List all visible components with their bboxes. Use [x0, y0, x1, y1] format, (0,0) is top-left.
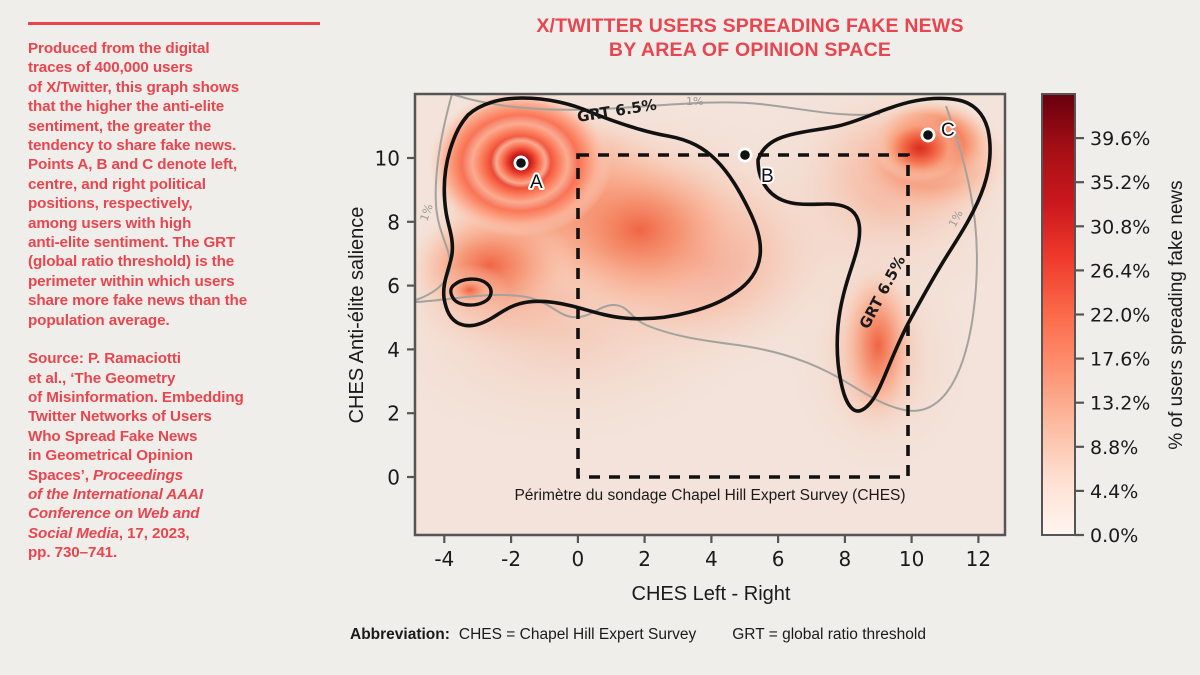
colorbar-gradient	[1042, 94, 1075, 535]
colorbar-tick-label: 22.0%	[1090, 305, 1150, 327]
y-tick-label: 2	[387, 402, 400, 426]
x-tick-label: 8	[839, 547, 852, 571]
plot-panel: GRT 6.5% GRT 6.5% 1% 1% 1% A B C	[360, 70, 1030, 535]
x-tick-label: 12	[966, 547, 991, 571]
point-c-label: C	[941, 120, 955, 141]
y-tick-label: 8	[387, 210, 400, 234]
x-axis-title: CHES Left - Right	[632, 583, 791, 605]
x-tick-label: 10	[899, 547, 924, 571]
x-tick-label: 2	[638, 547, 651, 571]
y-tick-label: 10	[375, 147, 400, 171]
colorbar-tick-label: 0.0%	[1090, 525, 1138, 547]
colorbar-ticks	[1075, 138, 1084, 535]
ches-perimeter-note: Périmètre du sondage Chapel Hill Expert …	[514, 487, 905, 504]
colorbar-tick-label: 30.8%	[1090, 216, 1150, 238]
y-tick-labels: 0 2 4 6 8 10	[375, 147, 400, 490]
abbreviation-footnote: Abbreviation:CHES = Chapel Hill Expert S…	[350, 626, 926, 644]
x-tick-label: 6	[772, 547, 785, 571]
colorbar-tick-label: 26.4%	[1090, 260, 1150, 282]
y-tick-label: 6	[387, 274, 400, 298]
chart-figure: GRT 6.5% GRT 6.5% 1% 1% 1% A B C	[0, 0, 1200, 675]
abbreviation-lead: Abbreviation:	[350, 626, 450, 643]
colorbar-tick-label: 8.8%	[1090, 437, 1138, 459]
colorbar-tick-label: 17.6%	[1090, 349, 1150, 371]
x-tick-labels: -4 -2 0 2 4 6 8 10 12	[434, 547, 991, 571]
colorbar-tick-label: 39.6%	[1090, 128, 1150, 150]
colorbar-tick-label: 35.2%	[1090, 172, 1150, 194]
point-a-dot	[516, 158, 526, 168]
colorbar-tick-label: 13.2%	[1090, 393, 1150, 415]
x-tick-label: -2	[501, 547, 521, 571]
point-c-dot	[923, 130, 933, 140]
x-tick-label: 0	[572, 547, 585, 571]
point-b-dot	[740, 150, 750, 160]
abbreviation-item-ches: CHES = Chapel Hill Expert Survey	[459, 626, 696, 643]
point-b-label: B	[761, 166, 774, 187]
x-tick-label: 4	[705, 547, 718, 571]
contour-label-1pct-top: 1%	[686, 95, 703, 108]
abbreviation-item-grt: GRT = global ratio threshold	[732, 626, 926, 643]
colorbar: 0.0% 4.4% 8.8% 13.2% 17.6% 22.0% 26.4% 3…	[1042, 94, 1187, 547]
y-axis-title: CHES Anti-élite salience	[346, 207, 368, 424]
colorbar-tick-labels: 0.0% 4.4% 8.8% 13.2% 17.6% 22.0% 26.4% 3…	[1090, 128, 1150, 547]
colorbar-tick-label: 4.4%	[1090, 481, 1138, 503]
colorbar-title: % of users spreading fake news	[1166, 180, 1187, 449]
y-tick-label: 4	[387, 338, 400, 362]
point-a-label: A	[530, 172, 543, 193]
x-axis: -4 -2 0 2 4 6 8 10 12 CHES Left - Right	[434, 535, 991, 605]
x-tick-label: -4	[434, 547, 454, 571]
y-tick-label: 0	[387, 466, 400, 490]
y-axis: 0 2 4 6 8 10 CHES Anti-élite salience	[346, 147, 415, 490]
chart-svg: GRT 6.5% GRT 6.5% 1% 1% 1% A B C	[0, 0, 1200, 675]
